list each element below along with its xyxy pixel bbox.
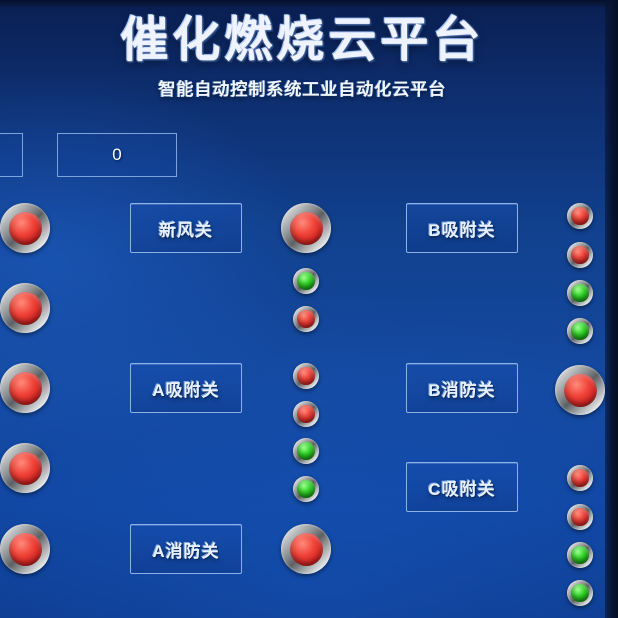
lamp-right-3[interactable] [567, 280, 593, 306]
button-a-adsorption-off[interactable]: A吸附关 [130, 363, 242, 413]
lamp-left-1[interactable] [0, 203, 50, 253]
lamp-bulb [571, 246, 588, 263]
lamp-bulb [9, 212, 42, 245]
lamp-right-6[interactable] [567, 465, 593, 491]
lamp-bulb [571, 469, 588, 486]
lamp-right-1[interactable] [567, 203, 593, 229]
lamp-right-2[interactable] [567, 242, 593, 268]
lamp-bulb [297, 405, 314, 422]
button-c-adsorption-off[interactable]: C吸附关 [406, 462, 518, 512]
top-dark-band [0, 0, 618, 7]
lamp-bulb [564, 374, 597, 407]
left-clipped-field[interactable] [0, 133, 23, 177]
lamp-right-9[interactable] [567, 580, 593, 606]
lamp-middle-3[interactable] [293, 306, 319, 332]
lamp-left-4[interactable] [0, 443, 50, 493]
lamp-left-2[interactable] [0, 283, 50, 333]
lamp-right-4[interactable] [567, 318, 593, 344]
lamp-right-5[interactable] [555, 365, 605, 415]
lamp-middle-6[interactable] [293, 438, 319, 464]
lamp-middle-5[interactable] [293, 401, 319, 427]
lamp-bulb [297, 310, 314, 327]
page-subtitle: 智能自动控制系统工业自动化云平台 [0, 75, 605, 100]
lamp-middle-7[interactable] [293, 476, 319, 502]
button-fresh-air-off[interactable]: 新风关 [130, 203, 242, 253]
lamp-right-8[interactable] [567, 542, 593, 568]
button-a-fire-off[interactable]: A消防关 [130, 524, 242, 574]
lamp-right-7[interactable] [567, 504, 593, 530]
lamp-left-5[interactable] [0, 524, 50, 574]
lamp-bulb [571, 322, 588, 339]
button-b-adsorption-off[interactable]: B吸附关 [406, 203, 518, 253]
lamp-bulb [9, 452, 42, 485]
lamp-bulb [297, 442, 314, 459]
lamp-bulb [9, 372, 42, 405]
page-header: 催化燃烧云平台 智能自动控制系统工业自动化云平台 [0, 14, 605, 100]
lamp-bulb [9, 533, 42, 566]
lamp-bulb [571, 546, 588, 563]
lamp-bulb [571, 207, 588, 224]
lamp-bulb [290, 212, 323, 245]
lamp-bulb [9, 292, 42, 325]
lamp-bulb [571, 584, 588, 601]
lamp-bulb [290, 533, 323, 566]
page-title: 催化燃烧云平台 [0, 14, 605, 68]
lamp-bulb [297, 272, 314, 289]
lamp-middle-4[interactable] [293, 363, 319, 389]
button-b-fire-off[interactable]: B消防关 [406, 363, 518, 413]
lamp-middle-2[interactable] [293, 268, 319, 294]
lamp-middle-8[interactable] [281, 524, 331, 574]
lamp-bulb [297, 480, 314, 497]
lamp-bulb [297, 367, 314, 384]
lamp-bulb [571, 284, 588, 301]
right-panel-edge [605, 0, 618, 618]
lamp-middle-1[interactable] [281, 203, 331, 253]
lamp-bulb [571, 508, 588, 525]
counter-field[interactable]: 0 [57, 133, 177, 177]
catalytic-combustion-hmi-screen: 催化燃烧云平台 智能自动控制系统工业自动化云平台 0 新风关 A吸附关 A消防关… [0, 0, 618, 618]
lamp-left-3[interactable] [0, 363, 50, 413]
